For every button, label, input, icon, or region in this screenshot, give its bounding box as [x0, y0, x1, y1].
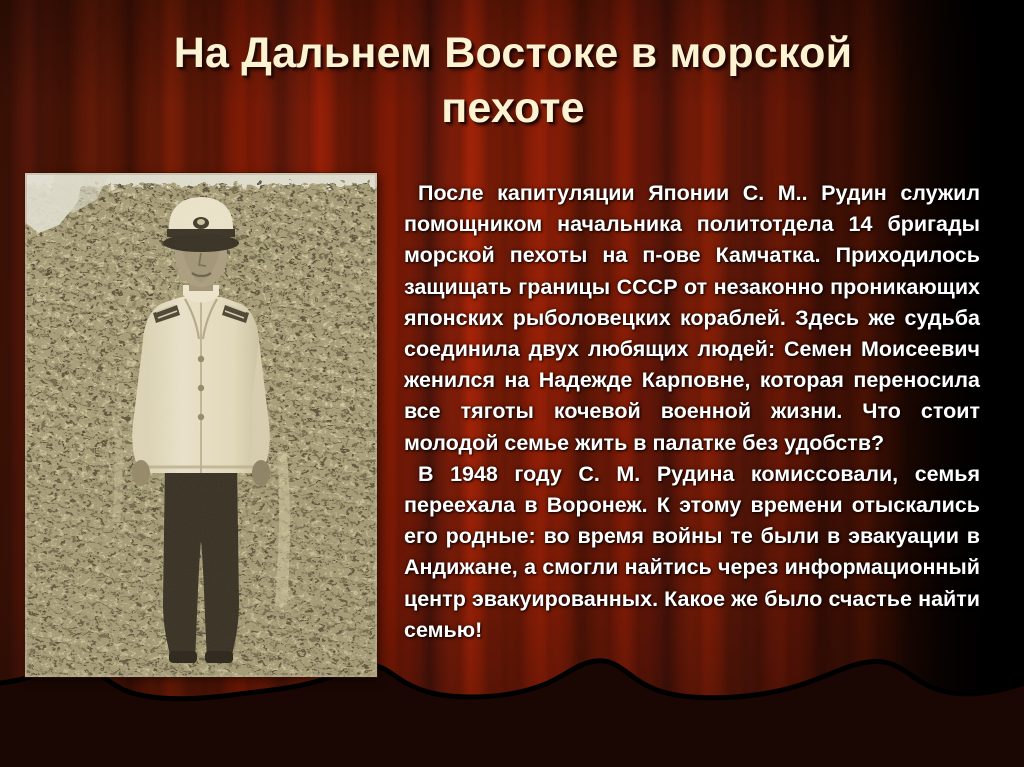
body-paragraph-1: После капитуляции Японии С. М.. Рудин сл…	[404, 178, 980, 459]
slide-body-text: После капитуляции Японии С. М.. Рудин сл…	[404, 178, 980, 646]
officer-portrait-photo	[25, 173, 377, 677]
body-paragraph-2: В 1948 году С. М. Рудина комиссовали, се…	[404, 459, 980, 646]
slide-title: На Дальнем Востоке в морской пехоте	[88, 26, 938, 136]
slide-title-line-1: На Дальнем Востоке в морской	[174, 29, 852, 77]
presentation-slide: На Дальнем Востоке в морской пехоте	[0, 0, 1024, 767]
slide-title-line-2: пехоте	[441, 84, 585, 132]
photo-illustration	[25, 173, 377, 677]
